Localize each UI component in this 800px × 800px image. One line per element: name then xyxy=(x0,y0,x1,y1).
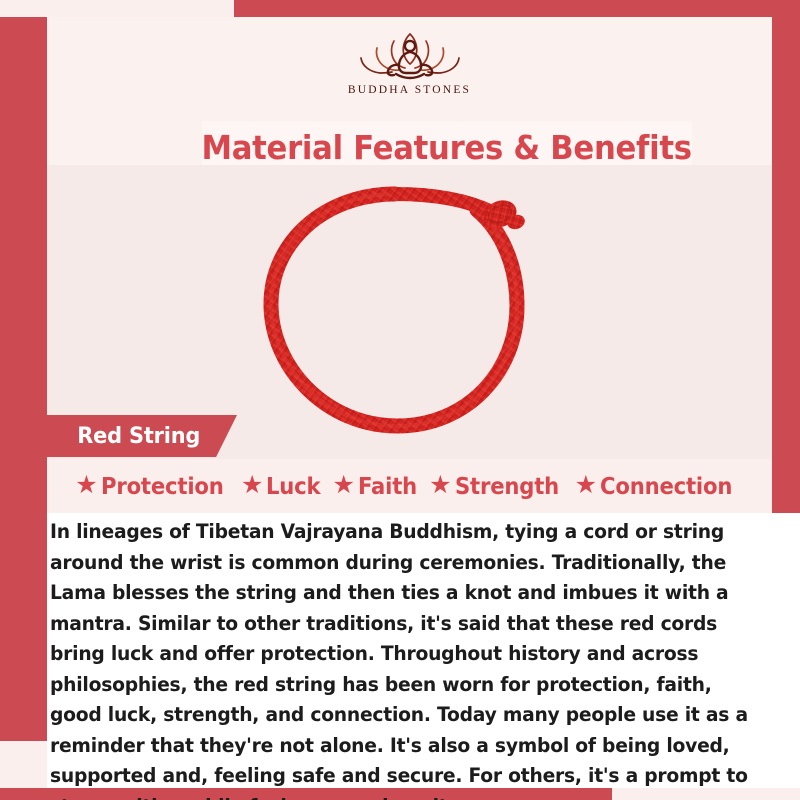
star-icon: ★ xyxy=(575,473,597,498)
star-icon: ★ xyxy=(241,473,263,498)
benefit-item: ★ Strength xyxy=(429,474,568,500)
brand-name: BUDDHA STONES xyxy=(348,84,471,96)
benefit-label: Strength xyxy=(455,474,559,500)
red-string-bracelet-image xyxy=(245,178,575,446)
infographic-page: BUDDHA STONES Material Features & Benefi… xyxy=(0,0,800,800)
star-icon: ★ xyxy=(333,473,355,498)
benefit-item: ★ Faith xyxy=(333,474,423,500)
benefit-label: Luck xyxy=(266,474,320,500)
decor-left-bar xyxy=(0,17,47,741)
benefits-row: ★ Protection ★ Luck ★ Faith ★ Strength ★… xyxy=(47,463,772,511)
benefit-item: ★ Protection xyxy=(75,474,234,500)
page-title: Material Features & Benefits xyxy=(202,128,692,167)
header-section: BUDDHA STONES Material Features & Benefi… xyxy=(47,17,772,165)
star-icon: ★ xyxy=(75,473,97,498)
material-label: Red String xyxy=(77,424,200,449)
brand-logo: BUDDHA STONES xyxy=(47,17,772,113)
decor-right-bar xyxy=(772,0,800,516)
description-text: In lineages of Tibetan Vajrayana Buddhis… xyxy=(50,517,753,800)
benefit-label: Connection xyxy=(600,474,732,500)
material-ribbon: Red String xyxy=(47,415,237,457)
star-icon: ★ xyxy=(429,473,451,498)
lotus-meditation-figure-icon xyxy=(344,21,476,83)
benefit-item: ★ Luck xyxy=(241,474,326,500)
benefit-item: ★ Connection xyxy=(575,474,744,500)
description-panel: In lineages of Tibetan Vajrayana Buddhis… xyxy=(47,513,800,788)
decor-top-bar xyxy=(234,0,800,17)
benefit-label: Faith xyxy=(358,474,417,500)
benefit-label: Protection xyxy=(101,474,224,500)
product-photo-panel xyxy=(47,165,772,459)
